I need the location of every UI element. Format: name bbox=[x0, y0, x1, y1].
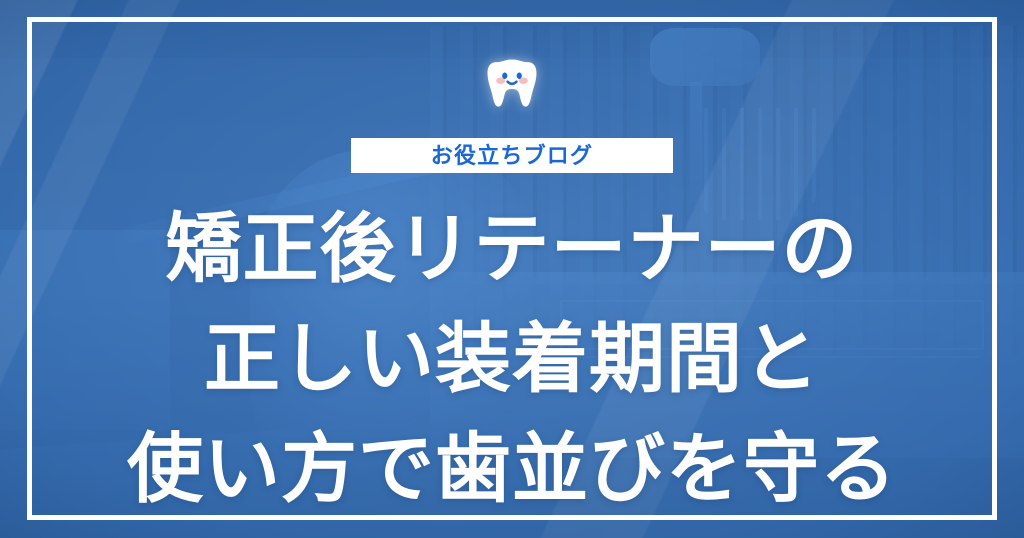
banner-content: お役立ちブログ 矯正後リテーナーの 正しい装着期間と 使い方で歯並びを守る bbox=[0, 0, 1024, 538]
page-title-line-2: 正しい装着期間と bbox=[127, 305, 897, 415]
page-title-line-1: 矯正後リテーナーの bbox=[127, 195, 897, 305]
category-badge[interactable]: お役立ちブログ bbox=[351, 138, 673, 173]
page-title: 矯正後リテーナーの 正しい装着期間と 使い方で歯並びを守る bbox=[127, 195, 897, 525]
blog-header-banner: お役立ちブログ 矯正後リテーナーの 正しい装着期間と 使い方で歯並びを守る bbox=[0, 0, 1024, 538]
page-title-line-3: 使い方で歯並びを守る bbox=[127, 415, 897, 525]
smiling-tooth-icon bbox=[483, 54, 541, 112]
category-badge-label: お役立ちブログ bbox=[431, 145, 593, 167]
